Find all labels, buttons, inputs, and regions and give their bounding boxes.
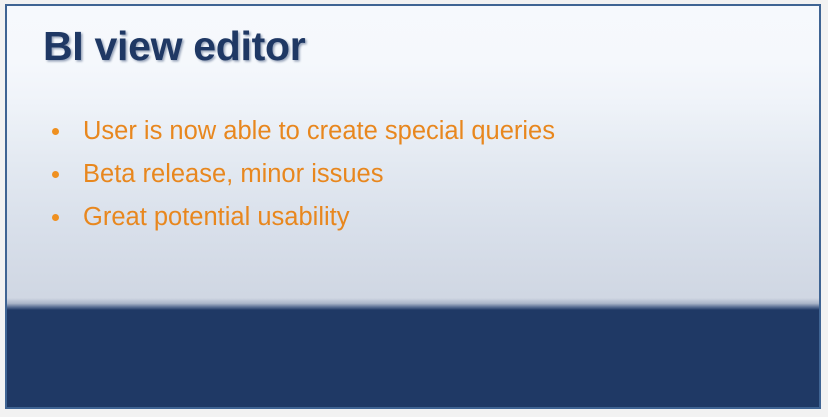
bullet-list-item: Great potential usability xyxy=(43,196,789,239)
bullet-dot-icon xyxy=(52,128,59,135)
bullet-dot-icon xyxy=(52,214,59,221)
bullet-list-item: User is now able to create special queri… xyxy=(43,110,789,153)
bullet-item-label: Great potential usability xyxy=(83,196,349,239)
slide-content: BI view editor User is now able to creat… xyxy=(7,6,819,407)
bullet-list: User is now able to create special queri… xyxy=(43,110,789,239)
bullet-dot-icon xyxy=(52,171,59,178)
bullet-item-label: User is now able to create special queri… xyxy=(83,110,555,153)
bullet-item-label: Beta release, minor issues xyxy=(83,153,383,196)
slide-title: BI view editor xyxy=(43,23,305,70)
slide-canvas: BI view editor User is now able to creat… xyxy=(0,0,828,417)
bullet-list-item: Beta release, minor issues xyxy=(43,153,789,196)
slide-frame: BI view editor User is now able to creat… xyxy=(5,4,821,409)
